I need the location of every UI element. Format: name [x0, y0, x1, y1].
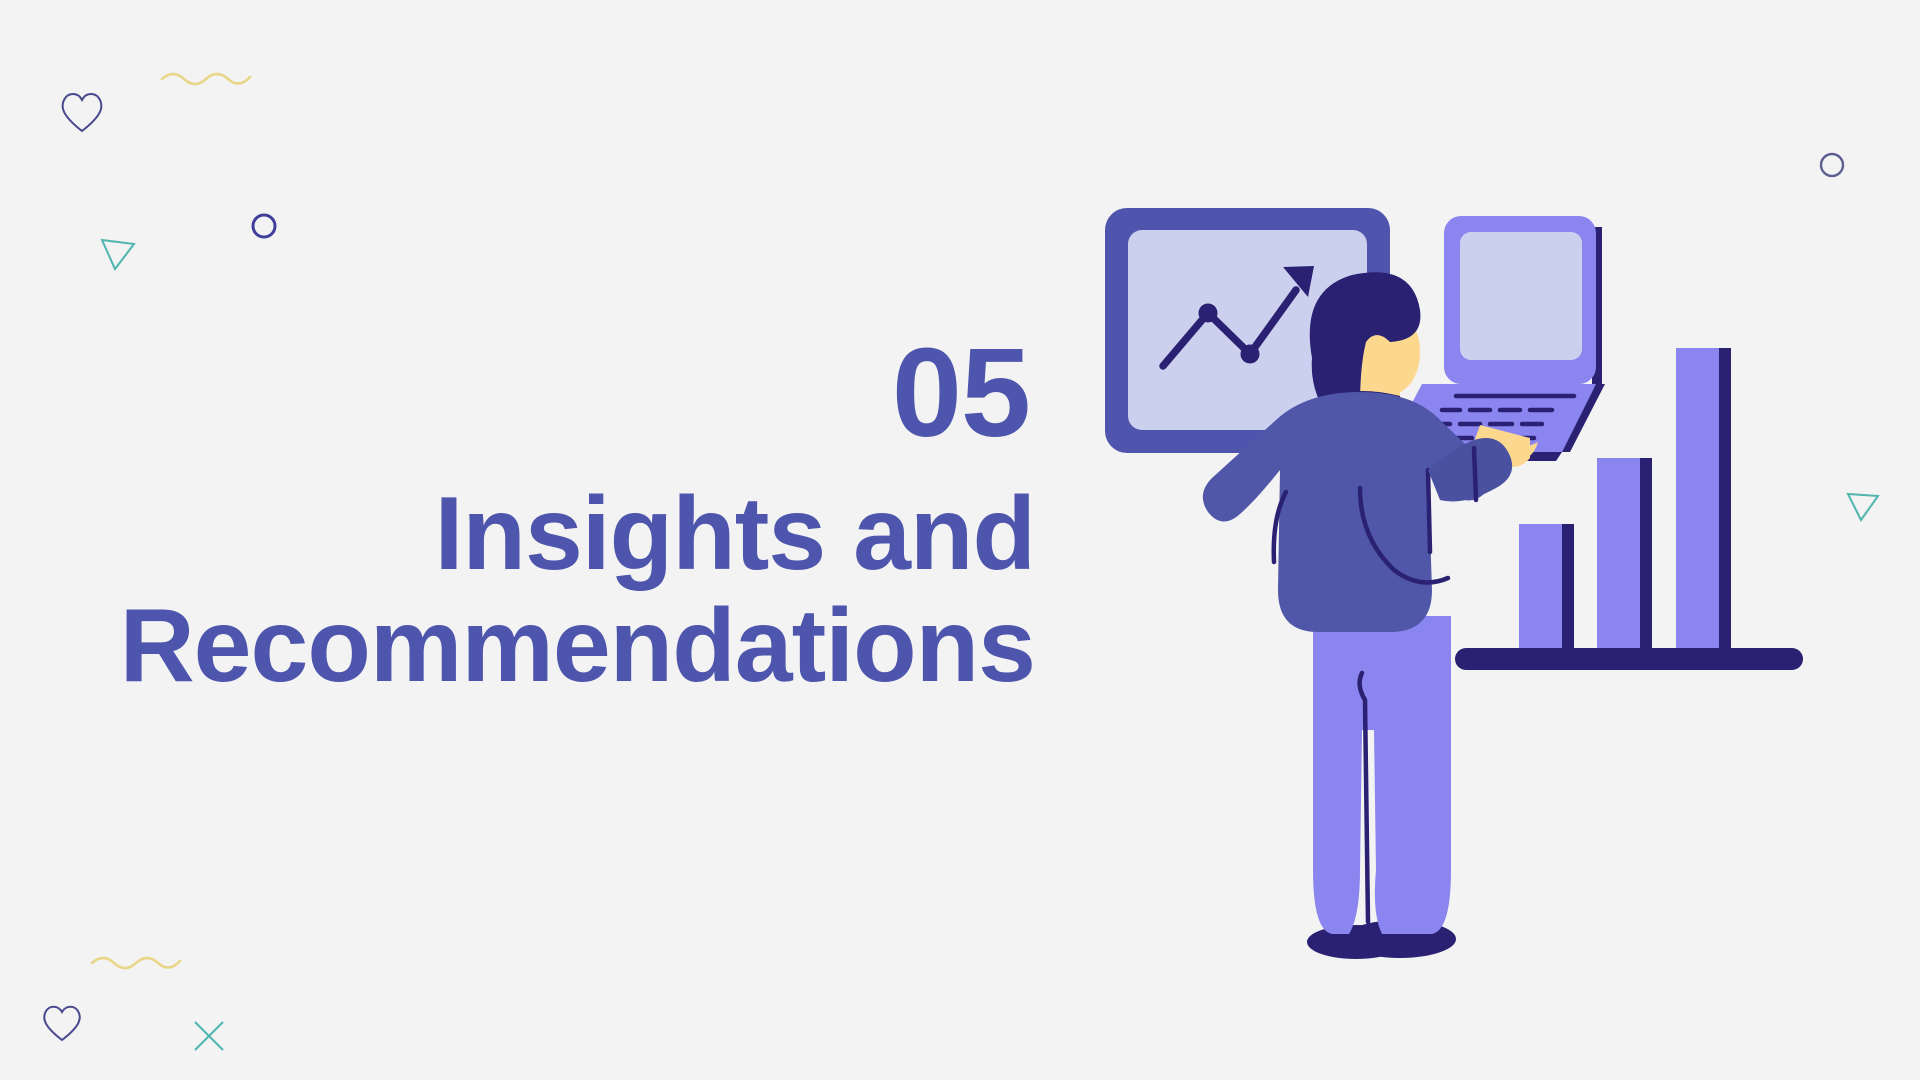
slide-canvas: 05 Insights and Recommendations — [0, 0, 1920, 1080]
triangle-outline-icon — [98, 231, 140, 273]
page-title-line-2: Recommendations — [0, 590, 1035, 702]
x-mark-icon — [190, 1017, 228, 1055]
heart-outline-icon — [58, 88, 106, 134]
wave-line-icon — [160, 68, 252, 90]
illustration-analyst-with-charts — [1060, 170, 1920, 960]
wave-line-icon — [90, 952, 182, 974]
circle-outline-icon — [249, 211, 279, 241]
page-title-line-1: Insights and — [0, 478, 1035, 590]
person-lower-body — [1307, 616, 1456, 959]
section-number: 05 — [0, 330, 1035, 456]
heart-outline-icon — [40, 1001, 84, 1043]
section-title-block: 05 Insights and Recommendations — [0, 330, 1035, 703]
